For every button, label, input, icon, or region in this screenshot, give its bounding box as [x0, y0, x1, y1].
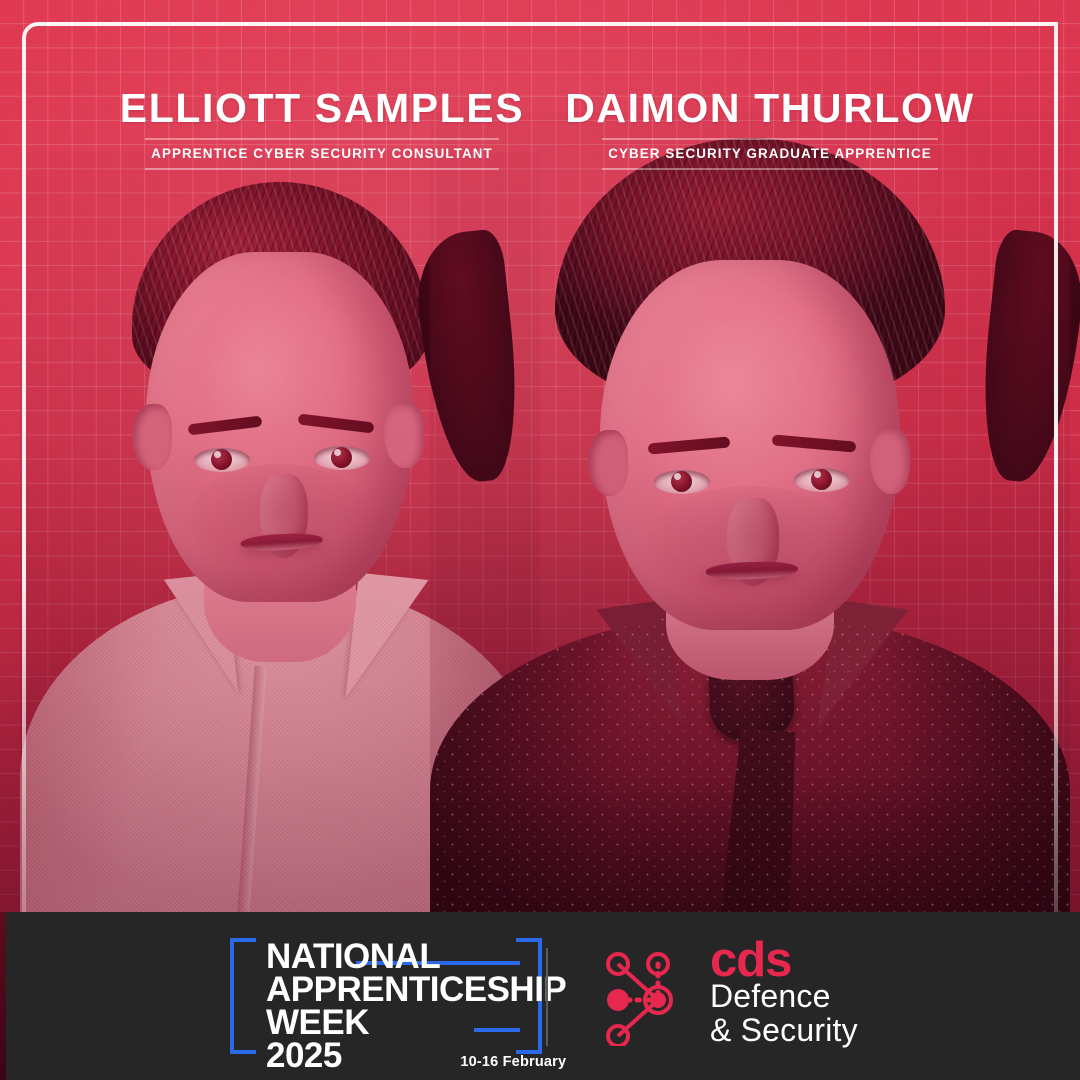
poster-canvas: ELLIOTT SAMPLES APPRENTICE CYBER SECURIT… — [0, 0, 1080, 1080]
eye-right — [314, 446, 370, 470]
footer-edge-accent — [0, 912, 6, 1080]
ear-left — [588, 430, 628, 496]
person-block-left: ELLIOTT SAMPLES APPRENTICE CYBER SECURIT… — [82, 88, 562, 161]
jaw-shading — [645, 486, 855, 616]
footer-divider — [546, 948, 548, 1046]
naw-wordmark: NATIONAL APPRENTICESHIP WEEK 2025 10-16 … — [266, 941, 566, 1073]
eye-left — [654, 470, 710, 494]
person-block-right: DAIMON THURLOW CYBER SECURITY GRADUATE A… — [530, 88, 1010, 161]
eye-right — [794, 468, 850, 492]
iris-right — [811, 469, 832, 490]
eyebrow-right — [772, 434, 857, 452]
person-name-left: ELLIOTT SAMPLES — [82, 88, 562, 129]
national-apprenticeship-week-logo: NATIONAL APPRENTICESHIP WEEK 2025 10-16 … — [230, 938, 542, 1054]
eyebrow-left — [648, 436, 731, 454]
naw-line-2: APPRENTICESHIP — [266, 974, 566, 1007]
head — [600, 260, 900, 630]
naw-line-3-row: WEEK 2025 10-16 February — [266, 1007, 566, 1073]
person-role-right: CYBER SECURITY GRADUATE APPRENTICE — [530, 146, 1010, 161]
naw-line-3: WEEK 2025 — [266, 1007, 451, 1073]
iris-right — [331, 447, 352, 468]
cds-brand: cds — [710, 940, 858, 980]
head — [146, 252, 414, 602]
iris-left — [211, 449, 232, 470]
eyebrow-left — [188, 416, 263, 436]
ear-right — [384, 402, 424, 468]
naw-line-1: NATIONAL — [266, 941, 566, 974]
shirt-placket — [237, 666, 266, 916]
person-name-right: DAIMON THURLOW — [530, 88, 1010, 129]
naw-dates: 10-16 February — [460, 1056, 566, 1073]
collar-right — [346, 573, 429, 706]
cds-wordmark: cds Defence & Security — [710, 940, 858, 1048]
jaw-shading — [185, 464, 375, 584]
footer-bar: NATIONAL APPRENTICESHIP WEEK 2025 10-16 … — [0, 912, 1080, 1080]
eyebrow-right — [298, 413, 375, 433]
cds-line-2: & Security — [710, 1014, 858, 1048]
iris-left — [671, 471, 692, 492]
ear-right — [870, 428, 910, 494]
portrait-daimon-thurlow — [430, 112, 1070, 912]
hair-fringe-right — [973, 228, 1080, 486]
cds-line-1: Defence — [710, 980, 858, 1014]
person-role-right-text: CYBER SECURITY GRADUATE APPRENTICE — [608, 146, 932, 161]
cds-logo: cds Defence & Security — [596, 940, 858, 1048]
ear-left — [132, 404, 172, 470]
cds-network-node-icon — [596, 942, 688, 1046]
person-role-left-text: APPRENTICE CYBER SECURITY CONSULTANT — [151, 146, 493, 161]
person-role-left: APPRENTICE CYBER SECURITY CONSULTANT — [82, 146, 562, 161]
